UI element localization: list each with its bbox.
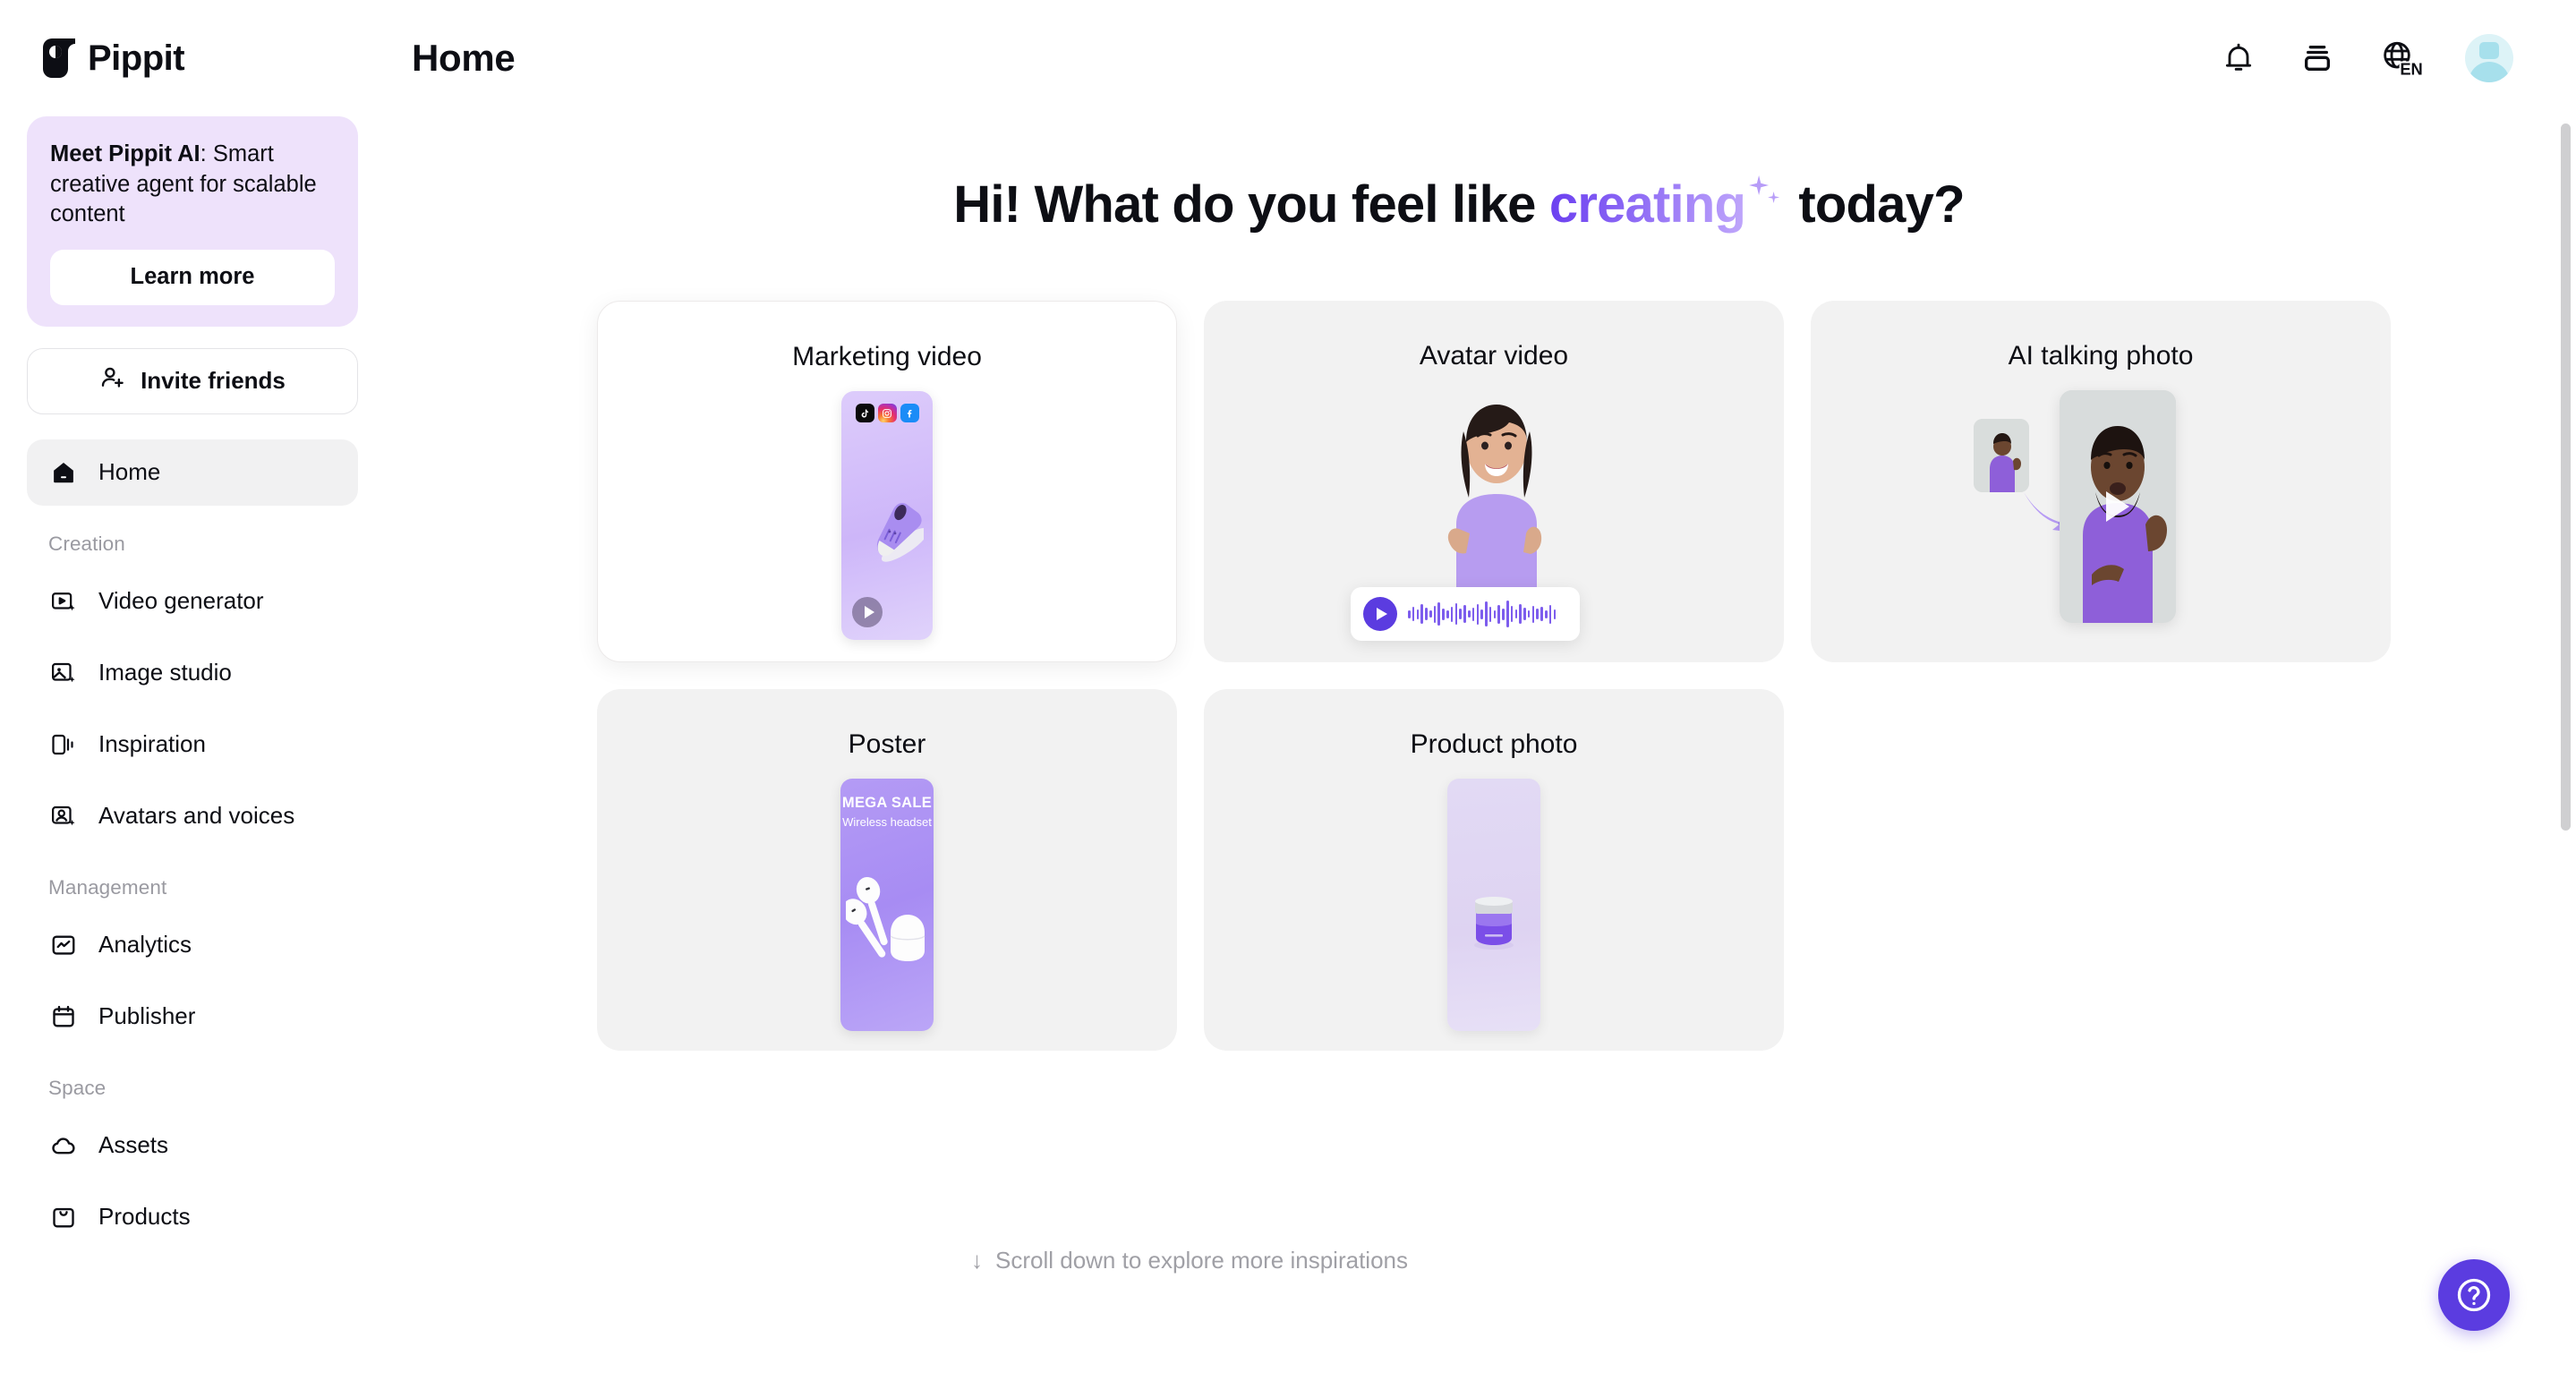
- invite-person-icon: [99, 364, 126, 397]
- facebook-icon: [900, 404, 919, 422]
- avatar-person-image: [1429, 390, 1564, 596]
- creation-card-grid: Marketing video: [597, 301, 2364, 1051]
- audio-player-bar[interactable]: [1351, 587, 1580, 641]
- promo-card[interactable]: Meet Pippit AI: Smart creative agent for…: [27, 116, 358, 327]
- source-photo-thumbnail: [1974, 419, 2029, 492]
- waveform-icon: [1408, 599, 1556, 629]
- cosmetic-jar-image: [1471, 893, 1517, 952]
- product-mockup: [1447, 779, 1540, 1031]
- product-photo-art: [1204, 779, 1784, 1051]
- app-root: Pippit Meet Pippit AI: Smart creative ag…: [0, 0, 2576, 1389]
- publisher-icon: [48, 1001, 79, 1032]
- card-ai-talking-photo-title: AI talking photo: [1811, 301, 2391, 371]
- sidebar-item-assets-label: Assets: [98, 1131, 168, 1159]
- card-product-photo[interactable]: Product photo: [1204, 689, 1784, 1051]
- invite-friends-label: Invite friends: [141, 367, 286, 395]
- sidebar-item-image-studio[interactable]: Image studio: [27, 640, 358, 706]
- card-marketing-video-title: Marketing video: [598, 302, 1176, 372]
- sidebar-group-title-management: Management: [27, 876, 358, 899]
- home-icon: [48, 457, 79, 488]
- sidebar-item-inspiration-label: Inspiration: [98, 730, 206, 758]
- products-bag-icon: [48, 1202, 79, 1232]
- scroll-hint-label: Scroll down to explore more inspirations: [995, 1247, 1408, 1274]
- card-ai-talking-photo[interactable]: AI talking photo: [1811, 301, 2391, 662]
- sidebar-group-title-creation: Creation: [27, 533, 358, 556]
- page-title: Home: [412, 37, 516, 80]
- sidebar: Pippit Meet Pippit AI: Smart creative ag…: [0, 0, 385, 1389]
- top-bar: Home: [385, 0, 2576, 116]
- help-button[interactable]: [2438, 1259, 2510, 1331]
- bell-icon[interactable]: [2218, 38, 2259, 79]
- inspiration-icon: [48, 729, 79, 760]
- play-button-overlay[interactable]: [852, 597, 883, 627]
- sidebar-item-avatars-and-voices[interactable]: Avatars and voices: [27, 783, 358, 849]
- sidebar-group-title-space: Space: [27, 1077, 358, 1100]
- sidebar-item-home[interactable]: Home: [27, 439, 358, 506]
- archive-icon[interactable]: [2297, 38, 2338, 79]
- language-code: EN: [2400, 59, 2422, 78]
- instagram-icon: [878, 404, 897, 422]
- help-question-icon: [2454, 1275, 2494, 1315]
- hero-part2: today?: [1785, 175, 1965, 234]
- scroll-hint[interactable]: ↓ Scroll down to explore more inspiratio…: [971, 1247, 1408, 1274]
- social-icons-row: [841, 404, 933, 422]
- globe-icon[interactable]: EN: [2376, 38, 2427, 79]
- tiktok-icon: [856, 404, 874, 422]
- earbuds-image: [846, 859, 928, 976]
- avatar-video-art: [1204, 390, 1784, 662]
- phone-mockup: [841, 391, 933, 640]
- avatars-voices-icon: [48, 801, 79, 831]
- avatar-head: [2479, 42, 2499, 59]
- brand-logo[interactable]: Pippit: [27, 0, 358, 116]
- sidebar-item-analytics[interactable]: Analytics: [27, 912, 358, 978]
- play-icon[interactable]: [1363, 597, 1397, 631]
- poster-art: MEGA SALE Wireless headset: [597, 779, 1177, 1051]
- brand-name: Pippit: [88, 38, 184, 79]
- invite-friends-button[interactable]: Invite friends: [27, 348, 358, 414]
- card-avatar-video-title: Avatar video: [1204, 301, 1784, 371]
- sidebar-group-creation: Creation Video generator: [27, 533, 358, 849]
- sparkle-icon: [1745, 186, 1785, 226]
- pippit-logo-icon: [43, 38, 75, 78]
- sidebar-group-management: Management Analytics Publishe: [27, 876, 358, 1050]
- card-poster-title: Poster: [597, 689, 1177, 760]
- card-product-photo-title: Product photo: [1204, 689, 1784, 760]
- hero-heading: Hi! What do you feel like creating today…: [385, 175, 2576, 234]
- sidebar-item-avatars-and-voices-label: Avatars and voices: [98, 802, 294, 830]
- hero-highlight: creating: [1549, 175, 1745, 234]
- sidebar-item-products[interactable]: Products: [27, 1184, 358, 1250]
- analytics-icon: [48, 930, 79, 960]
- top-bar-actions: EN: [2218, 34, 2513, 82]
- sidebar-item-analytics-label: Analytics: [98, 931, 192, 959]
- play-icon[interactable]: [2106, 491, 2129, 522]
- sidebar-item-products-label: Products: [98, 1203, 191, 1231]
- image-studio-icon: [48, 658, 79, 688]
- hero-part1: Hi! What do you feel like: [953, 175, 1549, 234]
- sidebar-item-publisher[interactable]: Publisher: [27, 984, 358, 1050]
- poster-mockup: MEGA SALE Wireless headset: [840, 779, 934, 1031]
- card-poster[interactable]: Poster MEGA SALE Wireless headset: [597, 689, 1177, 1051]
- main-content: Home: [385, 0, 2576, 1389]
- sneaker-image: [850, 464, 924, 572]
- video-generator-icon: [48, 586, 79, 617]
- ai-talking-photo-art: [1811, 390, 2391, 662]
- promo-text: Meet Pippit AI: Smart creative agent for…: [50, 140, 335, 230]
- avatar[interactable]: [2465, 34, 2513, 82]
- vertical-scrollbar[interactable]: [2561, 124, 2571, 831]
- poster-subline: Wireless headset: [840, 815, 934, 829]
- sidebar-item-image-studio-label: Image studio: [98, 659, 232, 686]
- poster-headline: MEGA SALE: [840, 795, 934, 812]
- arrow-down-icon: ↓: [971, 1247, 983, 1274]
- promo-title-bold: Meet Pippit AI: [50, 141, 200, 166]
- learn-more-button[interactable]: Learn more: [50, 250, 335, 305]
- assets-cloud-icon: [48, 1130, 79, 1161]
- marketing-video-art: [598, 391, 1176, 661]
- sidebar-group-space: Space Assets Products: [27, 1077, 358, 1250]
- sidebar-item-video-generator[interactable]: Video generator: [27, 568, 358, 635]
- card-marketing-video[interactable]: Marketing video: [597, 301, 1177, 662]
- generated-video-thumbnail: [2060, 390, 2176, 623]
- card-avatar-video[interactable]: Avatar video: [1204, 301, 1784, 662]
- sidebar-item-home-label: Home: [98, 458, 160, 486]
- sidebar-item-video-generator-label: Video generator: [98, 587, 264, 615]
- sidebar-item-inspiration[interactable]: Inspiration: [27, 712, 358, 778]
- sidebar-item-assets[interactable]: Assets: [27, 1112, 358, 1179]
- sidebar-item-publisher-label: Publisher: [98, 1002, 195, 1030]
- avatar-body: [2469, 62, 2510, 82]
